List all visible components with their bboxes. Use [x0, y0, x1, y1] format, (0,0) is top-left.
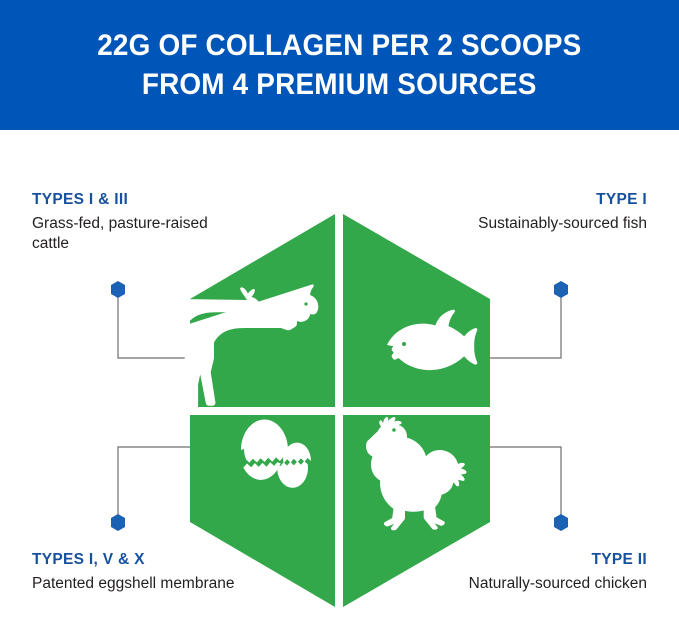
callout-bottom-left: TYPES I, V & X Patented eggshell membran… [32, 550, 247, 594]
callout-top-right: TYPE I Sustainably-sourced fish [432, 190, 647, 234]
chicken-eye [392, 428, 396, 432]
fish-eye [402, 342, 406, 346]
cow-eye [304, 302, 307, 305]
callout-description-bottom-right: Naturally-sourced chicken [432, 574, 647, 594]
panel-fish [343, 214, 490, 407]
sources-diagram: TYPES I & III Grass-fed, pasture-raised … [0, 130, 679, 630]
callout-description-top-left: Grass-fed, pasture-raised cattle [32, 214, 247, 254]
callout-title-top-right: TYPE I [432, 190, 647, 211]
callout-top-left: TYPES I & III Grass-fed, pasture-raised … [32, 190, 247, 254]
callout-title-bottom-left: TYPES I, V & X [32, 550, 247, 571]
callout-bottom-right: TYPE II Naturally-sourced chicken [432, 550, 647, 594]
infographic-page: 22G OF COLLAGEN PER 2 SCOOPS FROM 4 PREM… [0, 0, 679, 630]
callout-title-top-left: TYPES I & III [32, 190, 247, 211]
headline-line-1: 22G OF COLLAGEN PER 2 SCOOPS [97, 26, 581, 65]
marker-hexagon-top-left[interactable] [111, 281, 125, 298]
callout-title-bottom-right: TYPE II [432, 550, 647, 571]
header-banner: 22G OF COLLAGEN PER 2 SCOOPS FROM 4 PREM… [0, 0, 679, 130]
callout-description-bottom-left: Patented eggshell membrane [32, 574, 247, 594]
callout-description-top-right: Sustainably-sourced fish [432, 214, 647, 234]
marker-hexagon-bottom-left[interactable] [111, 514, 125, 531]
marker-hexagon-bottom-right[interactable] [554, 514, 568, 531]
headline-line-2: FROM 4 PREMIUM SOURCES [142, 65, 537, 104]
hexagon-panels [190, 214, 490, 607]
marker-hexagon-top-right[interactable] [554, 281, 568, 298]
